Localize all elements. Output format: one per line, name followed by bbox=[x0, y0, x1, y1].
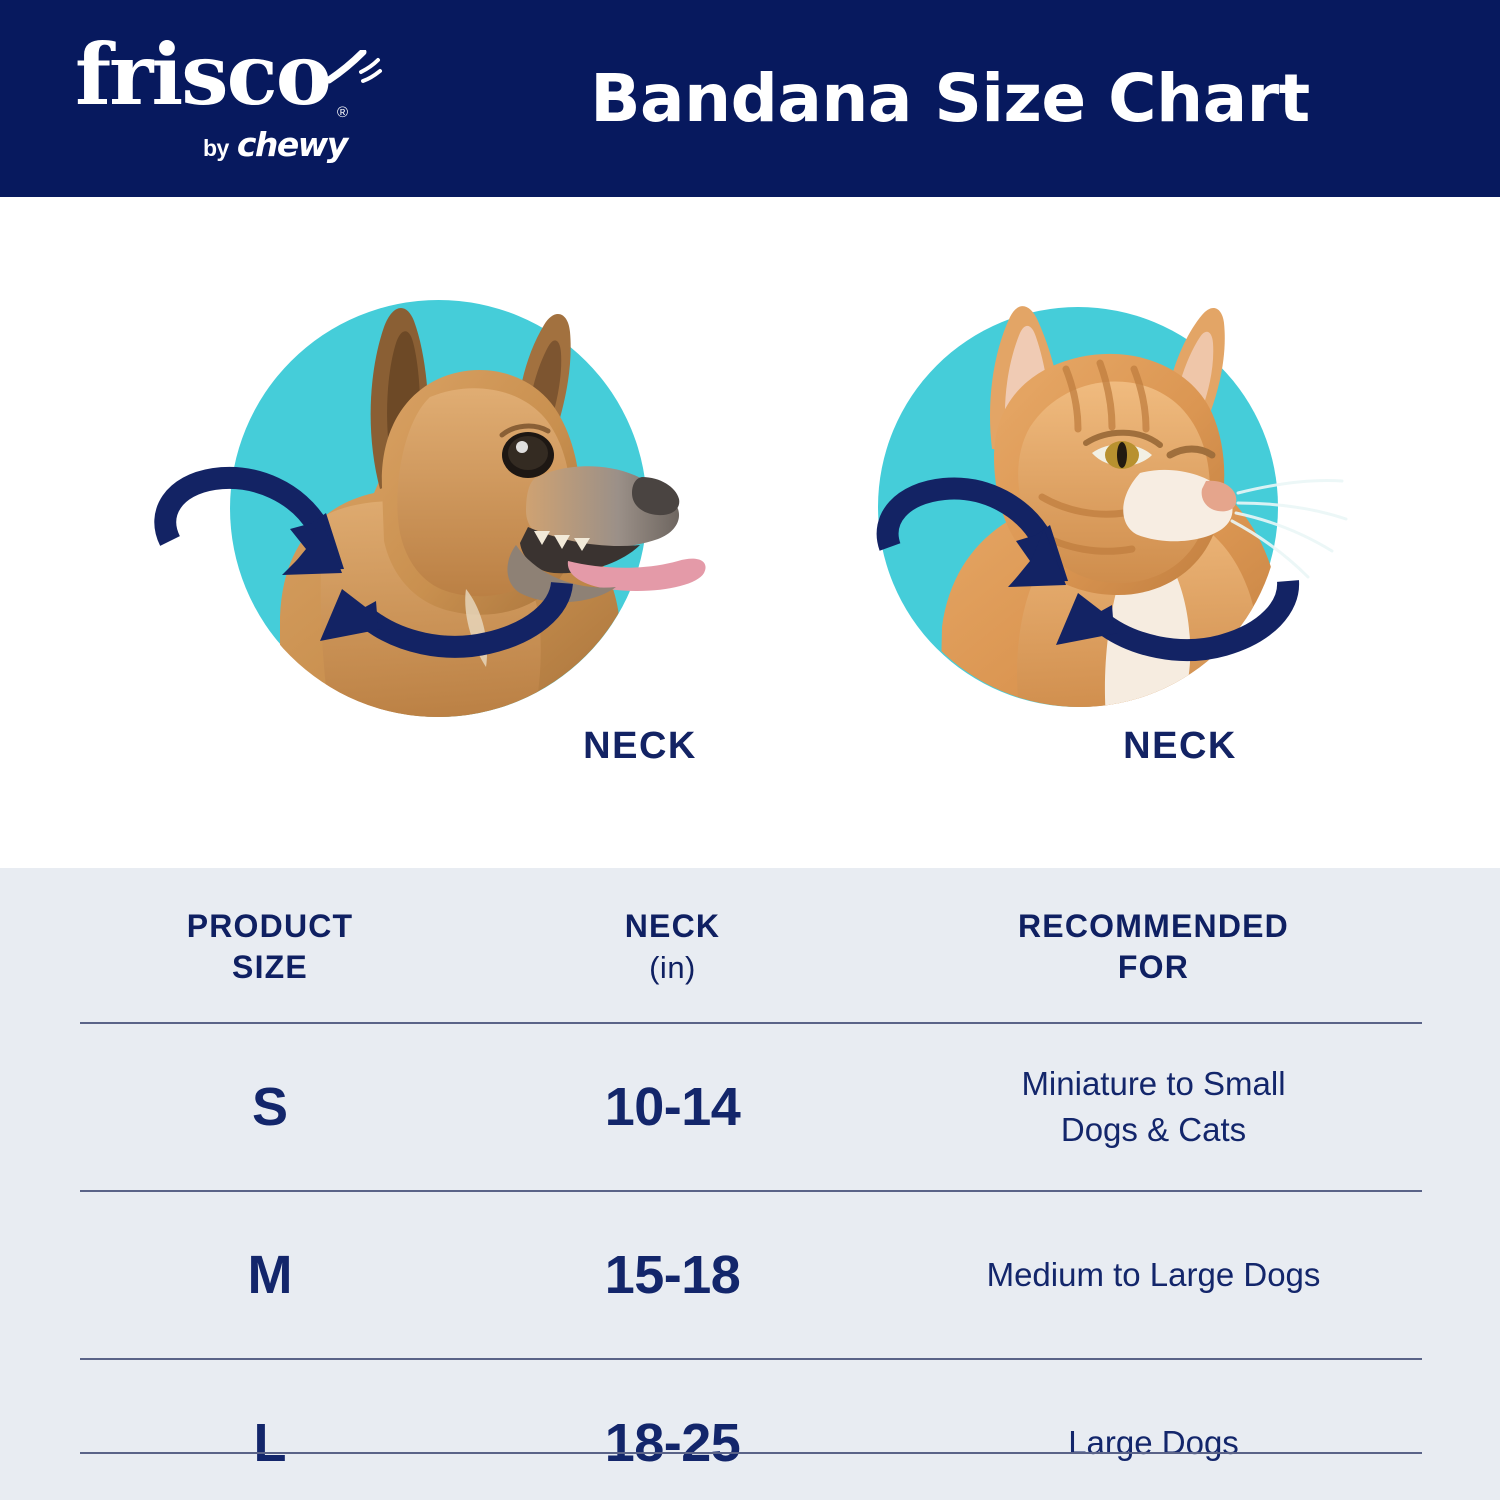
dog-neck-label: NECK bbox=[510, 725, 770, 768]
column-header-neck: NECK (in) bbox=[460, 868, 885, 1023]
dog-photo bbox=[130, 197, 750, 757]
column-header-product-size: PRODUCT SIZE bbox=[80, 868, 460, 1023]
cell-recommended: Medium to Large Dogs bbox=[885, 1191, 1422, 1359]
frisco-logo: frisco ® by chewy bbox=[75, 32, 375, 167]
cell-size: S bbox=[80, 1023, 460, 1191]
brand-by-label: by bbox=[203, 135, 229, 162]
table-row: M 15-18 Medium to Large Dogs bbox=[80, 1191, 1422, 1359]
brand-wordmark: frisco bbox=[75, 32, 330, 118]
column-header-recommended-line2: FOR bbox=[1118, 949, 1189, 985]
cell-recommended: Miniature to Small Dogs & Cats bbox=[885, 1023, 1422, 1191]
brand-chewy-label: chewy bbox=[237, 125, 347, 164]
illustration-area: NECK bbox=[0, 197, 1500, 868]
cell-neck: 18-25 bbox=[460, 1359, 885, 1500]
cat-neck-label: NECK bbox=[1050, 725, 1310, 768]
table-header-row: PRODUCT SIZE NECK (in) RECOMMENDED FOR bbox=[80, 868, 1422, 1023]
cell-size: L bbox=[80, 1359, 460, 1500]
column-header-product-size-line2: SIZE bbox=[232, 949, 308, 985]
cell-neck: 10-14 bbox=[460, 1023, 885, 1191]
size-table: PRODUCT SIZE NECK (in) RECOMMENDED FOR S bbox=[80, 868, 1422, 1500]
dog-illustration-block: NECK bbox=[130, 197, 750, 868]
column-header-recommended-for: RECOMMENDED FOR bbox=[885, 868, 1422, 1023]
cat-photo bbox=[870, 197, 1490, 757]
cell-recommended-line1: Medium to Large Dogs bbox=[987, 1256, 1321, 1293]
swish-icon bbox=[327, 50, 383, 90]
cat-illustration-block: NECK bbox=[870, 197, 1490, 868]
column-header-product-size-line1: PRODUCT bbox=[187, 908, 354, 944]
cell-neck: 15-18 bbox=[460, 1191, 885, 1359]
table-row: S 10-14 Miniature to Small Dogs & Cats bbox=[80, 1023, 1422, 1191]
column-header-neck-line1: NECK bbox=[625, 908, 720, 944]
cell-recommended-line1: Large Dogs bbox=[1068, 1424, 1239, 1461]
size-table-section: PRODUCT SIZE NECK (in) RECOMMENDED FOR S bbox=[0, 868, 1500, 1500]
table-head: PRODUCT SIZE NECK (in) RECOMMENDED FOR bbox=[80, 868, 1422, 1023]
bandana-size-chart-page: frisco ® by chewy Bandana Size Chart bbox=[0, 0, 1500, 1500]
cell-size: M bbox=[80, 1191, 460, 1359]
registered-trademark-icon: ® bbox=[337, 104, 348, 121]
table-body: S 10-14 Miniature to Small Dogs & Cats M… bbox=[80, 1023, 1422, 1500]
column-header-recommended-line1: RECOMMENDED bbox=[1018, 908, 1289, 944]
table-row: L 18-25 Large Dogs bbox=[80, 1359, 1422, 1500]
column-header-neck-unit: (in) bbox=[460, 947, 885, 988]
table-bottom-divider bbox=[80, 1452, 1422, 1454]
cell-recommended-line2: Dogs & Cats bbox=[1061, 1111, 1246, 1148]
cell-recommended-line1: Miniature to Small bbox=[1021, 1065, 1285, 1102]
cell-recommended: Large Dogs bbox=[885, 1359, 1422, 1500]
page-title: Bandana Size Chart bbox=[500, 0, 1400, 197]
brand-subline: by chewy bbox=[203, 125, 347, 164]
header-bar: frisco ® by chewy Bandana Size Chart bbox=[0, 0, 1500, 197]
